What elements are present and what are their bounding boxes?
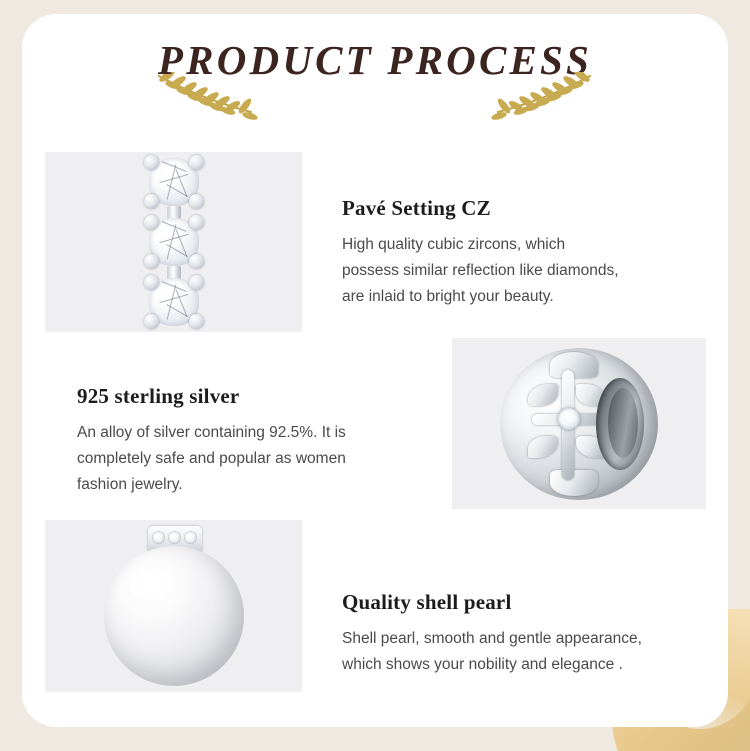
feature-body: An alloy of silver containing 92.5%. It … — [77, 420, 422, 498]
feature-title: Pavé Setting CZ — [342, 196, 712, 221]
feature-body-line: possess similar reflection like diamonds… — [342, 262, 619, 279]
product-photo-pave-cz — [45, 152, 302, 332]
feature-body-line: An alloy of silver containing 92.5%. It … — [77, 424, 346, 441]
content-card: PRODUCT PROCESS — [22, 14, 728, 727]
feature-body: Shell pearl, smooth and gentle appearanc… — [342, 626, 714, 678]
laurel-branch-icon — [490, 72, 594, 120]
feature-title: Quality shell pearl — [342, 590, 714, 615]
product-photo-silver-bead — [452, 338, 706, 509]
product-process-infographic: PRODUCT PROCESS — [0, 0, 750, 751]
silver-spacer-bead-illustration — [500, 348, 658, 500]
feature-text-shell-pearl: Quality shell pearl Shell pearl, smooth … — [342, 590, 714, 678]
feature-body-line: fashion jewelry. — [77, 476, 183, 493]
feature-body: High quality cubic zircons, which posses… — [342, 232, 712, 310]
feature-body-line: Shell pearl, smooth and gentle appearanc… — [342, 630, 642, 647]
feature-body-line: completely safe and popular as women — [77, 450, 346, 467]
page-title: PRODUCT PROCESS — [22, 36, 728, 84]
feature-title: 925 sterling silver — [77, 384, 422, 409]
shell-pearl-illustration — [104, 526, 244, 686]
feature-text-sterling-silver: 925 sterling silver An alloy of silver c… — [77, 384, 422, 498]
header: PRODUCT PROCESS — [22, 30, 728, 126]
product-photo-shell-pearl — [45, 520, 302, 692]
feature-body-line: which shows your nobility and elegance . — [342, 656, 623, 673]
feature-text-pave-cz: Pavé Setting CZ High quality cubic zirco… — [342, 196, 712, 310]
feature-body-line: are inlaid to bright your beauty. — [342, 288, 554, 305]
cz-stone-stack-illustration — [143, 154, 205, 330]
feature-body-line: High quality cubic zircons, which — [342, 236, 565, 253]
